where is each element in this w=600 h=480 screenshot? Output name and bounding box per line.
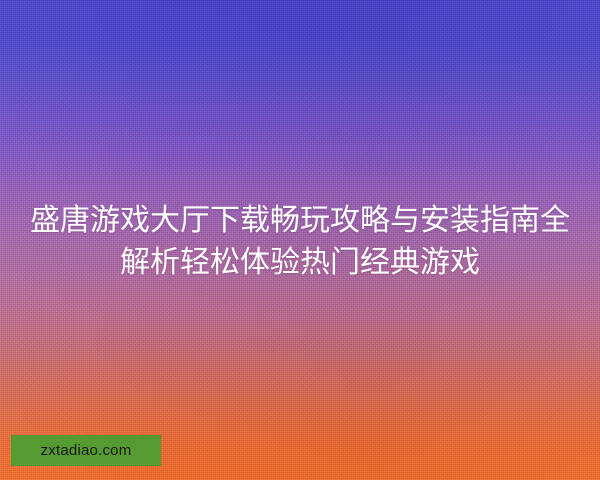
article-thumbnail-banner: 盛唐游戏大厅下载畅玩攻略与安装指南全 解析轻松体验热门经典游戏 zxtadiao… [0, 0, 600, 480]
watermark-badge: zxtadiao.com [11, 435, 161, 466]
banner-title-block: 盛唐游戏大厅下载畅玩攻略与安装指南全 解析轻松体验热门经典游戏 [0, 200, 600, 284]
banner-title: 盛唐游戏大厅下载畅玩攻略与安装指南全 解析轻松体验热门经典游戏 [14, 200, 586, 284]
watermark-site-label: zxtadiao.com [41, 443, 132, 458]
